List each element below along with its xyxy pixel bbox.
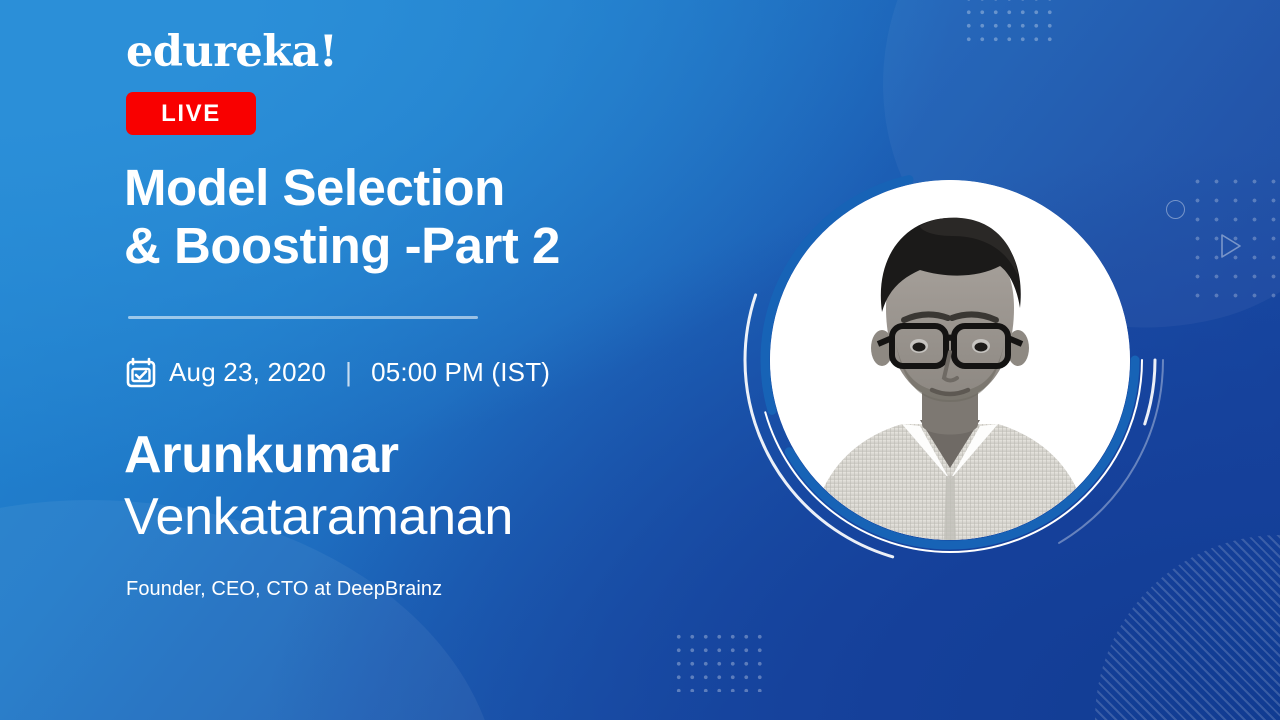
title-divider <box>128 316 478 319</box>
speaker-role: Founder, CEO, CTO at DeepBrainz <box>126 578 442 601</box>
webinar-promo-slide: edureka! LIVE Model Selection & Boosting… <box>0 0 1280 720</box>
webinar-time: 05:00 PM (IST) <box>371 357 550 388</box>
decorative-dot-grid-right <box>1188 172 1280 302</box>
webinar-date: Aug 23, 2020 <box>169 357 326 388</box>
speaker-first-name: Arunkumar <box>124 428 399 483</box>
schedule-row: Aug 23, 2020 | 05:00 PM (IST) <box>126 357 550 388</box>
live-badge-label: LIVE <box>161 100 221 128</box>
schedule-separator: | <box>345 357 352 388</box>
content-column: edureka! LIVE Model Selection & Boosting… <box>126 0 726 720</box>
avatar <box>770 180 1130 540</box>
title-line-1: Model Selection <box>124 159 744 217</box>
page-title: Model Selection & Boosting -Part 2 <box>124 159 744 275</box>
circle-outline-icon <box>1166 200 1185 219</box>
title-line-2: & Boosting -Part 2 <box>124 217 744 275</box>
calendar-check-icon <box>126 357 156 388</box>
live-badge: LIVE <box>126 92 256 135</box>
speaker-portrait <box>770 180 1130 540</box>
speaker-last-name: Venkataramanan <box>124 490 513 545</box>
portrait-illustration <box>770 180 1130 540</box>
edureka-logo: edureka! <box>126 31 337 74</box>
play-triangle-icon <box>1218 232 1244 260</box>
decorative-dot-grid-top <box>962 0 1060 44</box>
